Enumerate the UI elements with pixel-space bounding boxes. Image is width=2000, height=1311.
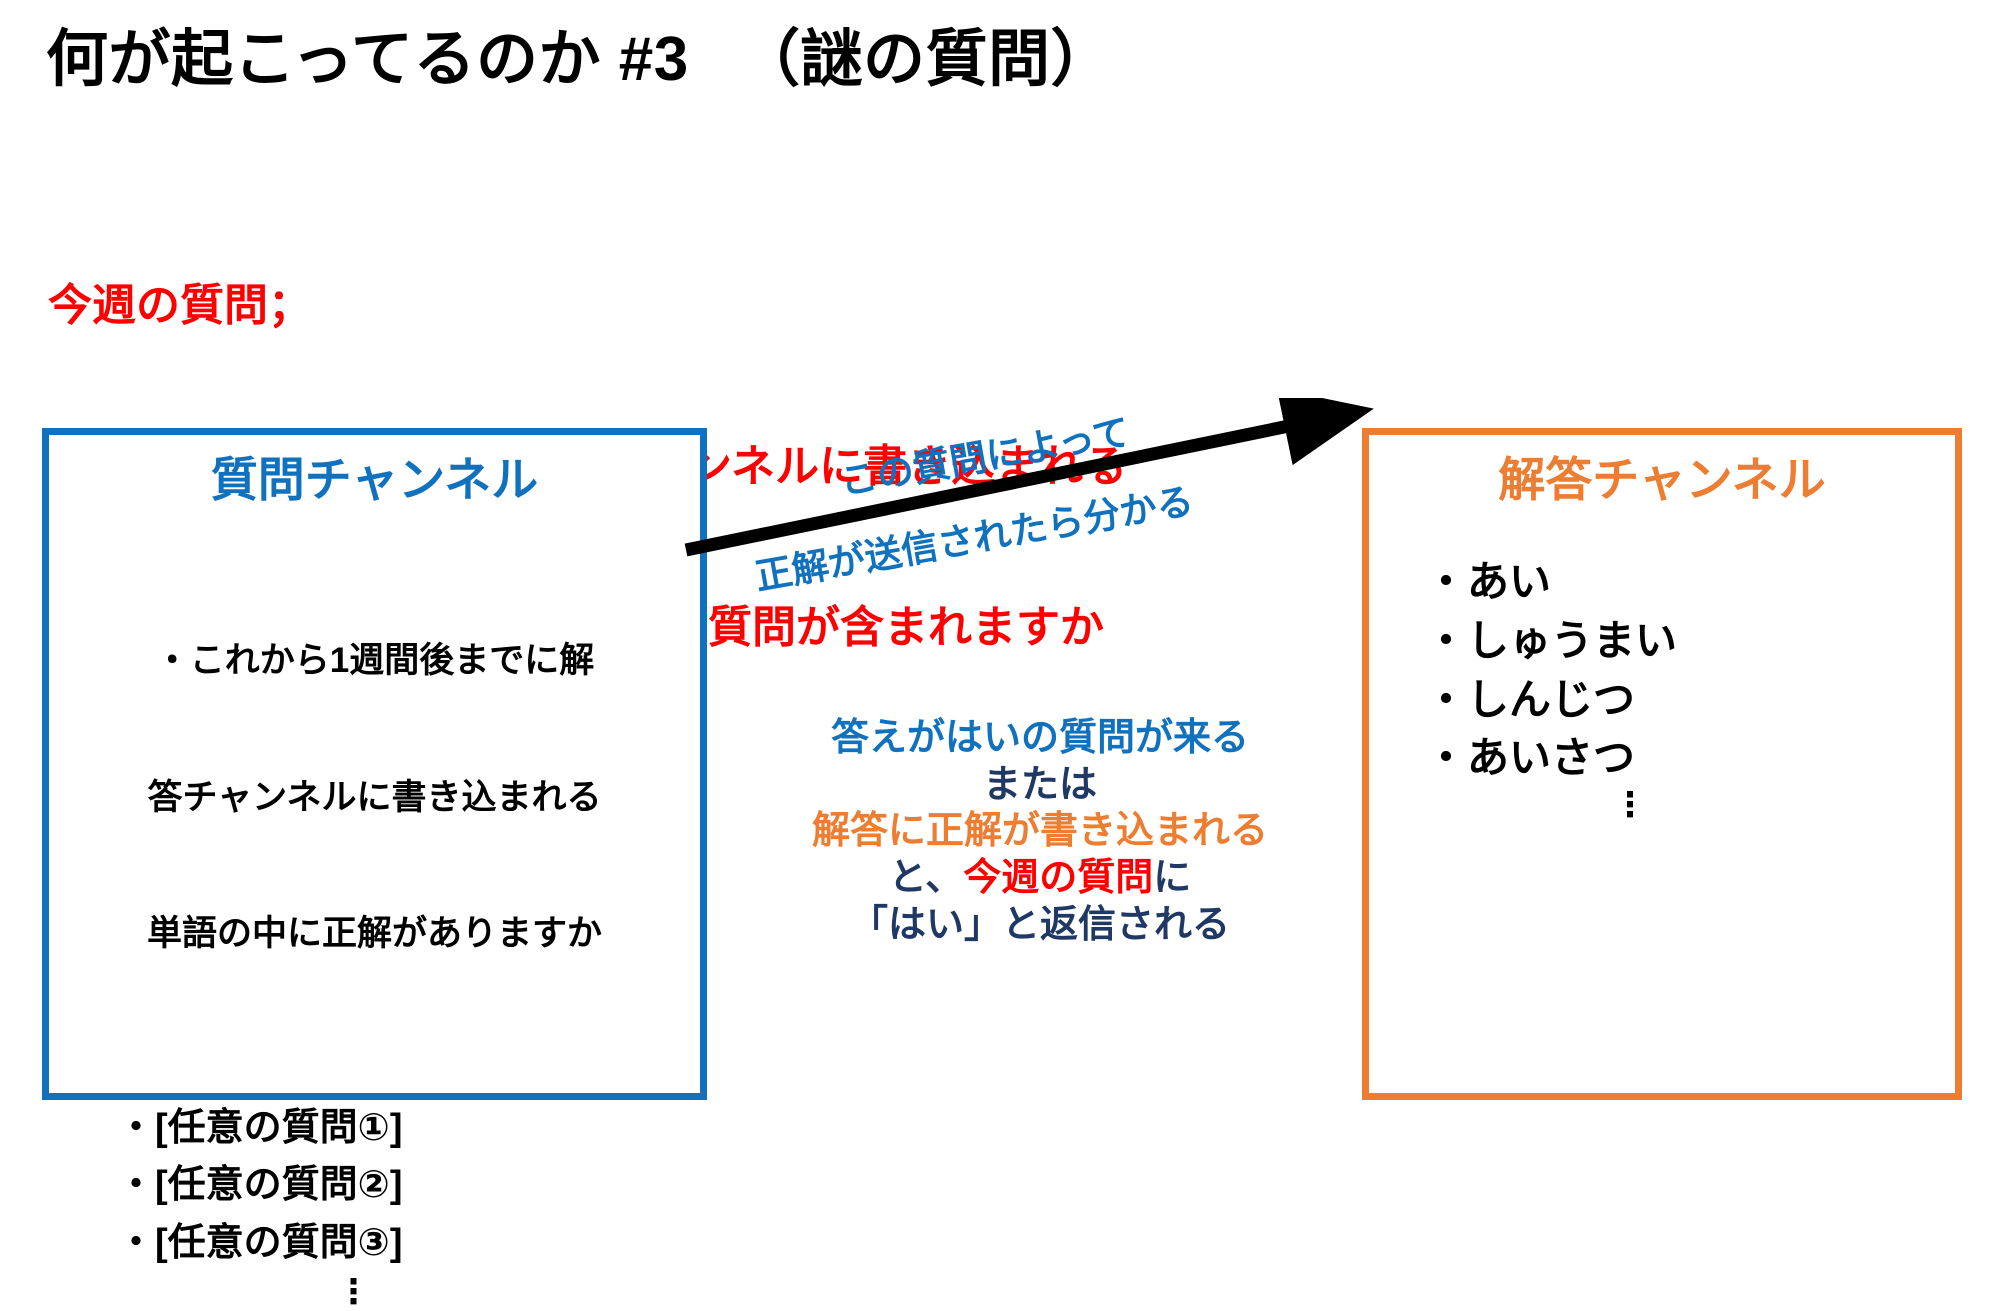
answer-channel-list: ・あい ・しゅうまい ・しんじつ ・あいさつ ⋮ [1369,553,1955,821]
list-item: ・あいさつ [1425,729,1955,788]
page-title: 何が起こってるのか #3 （謎の質問） [46,24,1113,95]
answer-channel-title: 解答チャンネル [1369,453,1955,507]
center-note-line-2: または [735,762,1345,809]
question-channel-title: 質問チャンネル [49,453,700,507]
center-note-line-3: 解答に正解が書き込まれる [735,808,1345,855]
center-note-line-5: 「はい」と返信される [735,902,1345,949]
list-item: ・しんじつ [1425,671,1955,730]
vertical-ellipsis-icon: ⋮ [117,1277,700,1308]
list-item: ・[任意の質問②] [117,1157,700,1215]
vertical-ellipsis-icon: ⋮ [1425,790,1955,821]
question-channel-description-line-2: 答チャンネルに書き込まれる [55,775,694,821]
question-channel-description: ・これから1週間後までに解 答チャンネルに書き込まれる 単語の中に正解があります… [49,547,700,1048]
question-channel-list: ・[任意の質問①] ・[任意の質問②] ・[任意の質問③] ⋮ [49,1100,700,1308]
question-channel-description-line-3: 単語の中に正解がありますか [55,911,694,957]
question-channel-box: 質問チャンネル ・これから1週間後までに解 答チャンネルに書き込まれる 単語の中… [42,428,707,1100]
list-item: ・[任意の質問①] [117,1100,700,1158]
list-item: ・しゅうまい [1425,612,1955,671]
weekly-question-line-1: 今週の質問； [48,279,1127,333]
list-item: ・[任意の質問③] [117,1215,700,1273]
list-item: ・あい [1425,553,1955,612]
center-explanation-note: 答えがはいの質問が来る または 解答に正解が書き込まれる と、今週の質問に 「は… [735,715,1345,949]
center-note-line-4: と、今週の質問に [735,855,1345,902]
center-note-line-1: 答えがはいの質問が来る [735,715,1345,762]
question-channel-description-line-1: ・これから1週間後までに解 [55,638,694,684]
answer-channel-box: 解答チャンネル ・あい ・しゅうまい ・しんじつ ・あいさつ ⋮ [1362,428,1962,1100]
